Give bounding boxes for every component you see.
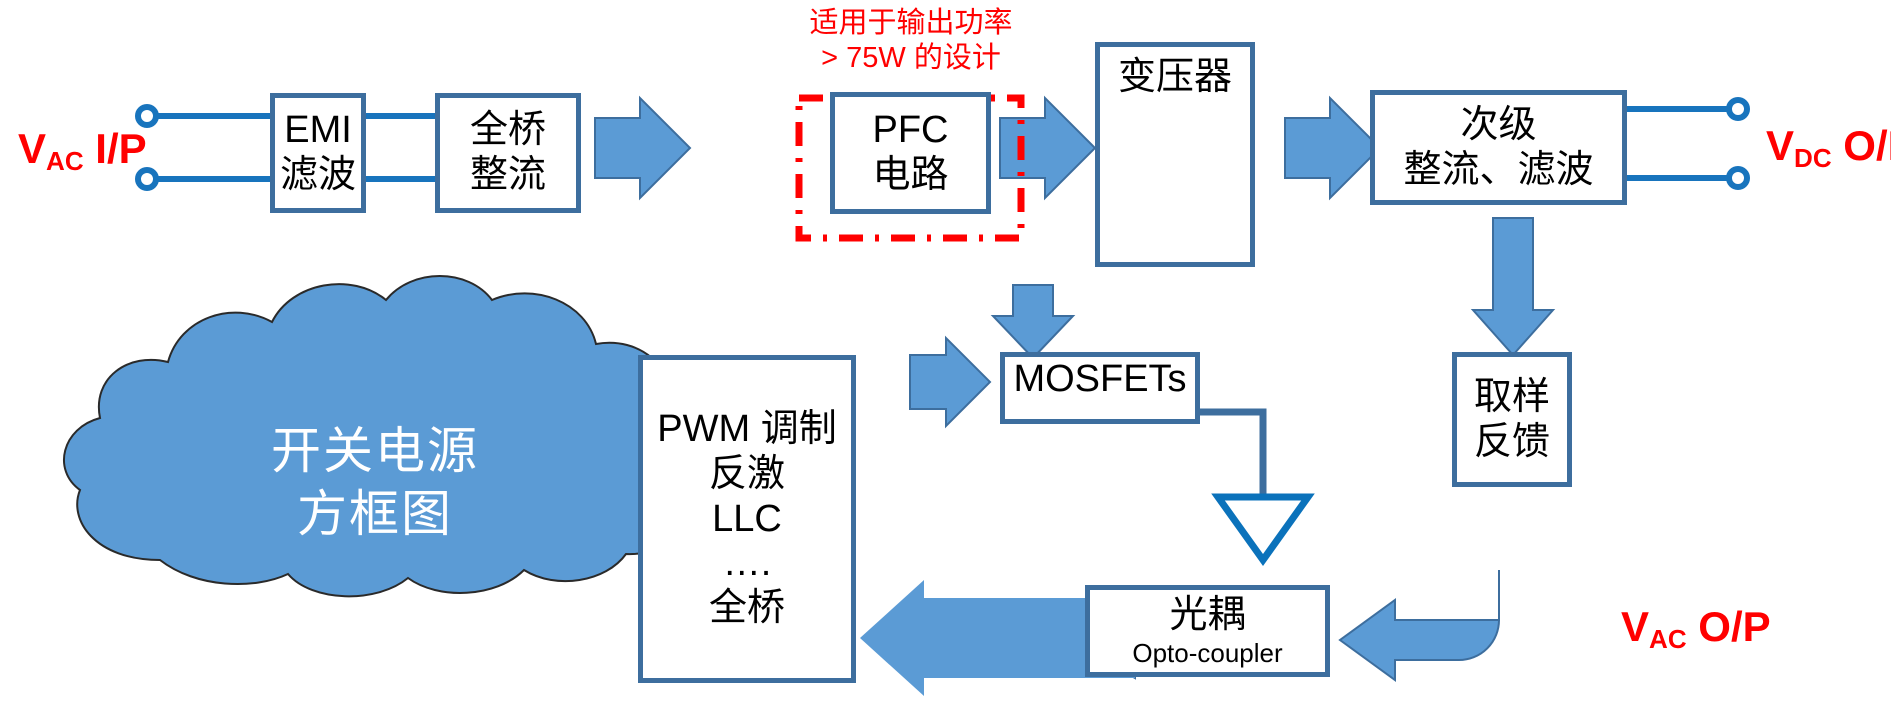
arrow-sampling-to-optocoupler-icon (1340, 570, 1499, 680)
output-terminal-top-icon (1729, 100, 1747, 118)
output-terminal-bottom-icon (1729, 169, 1747, 187)
box-transformer[interactable]: 变压器 (1095, 42, 1255, 267)
box-emi-filter[interactable]: EMI滤波 (270, 93, 366, 213)
input-terminal-top-icon (138, 107, 156, 125)
arrow-rectifier-to-pfc-icon (595, 98, 690, 198)
label-vac-output-sub: AC (1649, 624, 1687, 654)
label-vac-input-io: I/P (95, 125, 146, 172)
label-vac-output: VAC O/P (1621, 603, 1771, 651)
label-vdc-output: VDC O/P (1766, 122, 1891, 170)
box-sampling-feedback[interactable]: 取样 反馈 (1452, 352, 1572, 487)
optocoupler-label-en: Opto-coupler (1132, 638, 1282, 669)
emi-to-rectifier-wires (363, 116, 437, 179)
hollow-down-arrow-icon (1218, 497, 1308, 560)
arrow-secondary-to-sampling-icon (1473, 218, 1553, 355)
label-vac-output-v: V (1621, 603, 1649, 650)
box-pwm-control[interactable]: PWM 调制 反激 LLC …. 全桥 (638, 355, 856, 683)
box-optocoupler[interactable]: 光耦 Opto-coupler (1085, 585, 1330, 677)
arrow-pwm-to-mosfets-icon (910, 338, 990, 426)
output-wires (1627, 109, 1730, 178)
label-vac-input: VAC I/P (18, 125, 147, 173)
label-vac-output-io: O/P (1698, 603, 1770, 650)
box-mosfets[interactable]: MOSFETs (1000, 352, 1200, 424)
box-secondary-rectify-filter[interactable]: 次级 整流、滤波 (1370, 90, 1627, 205)
input-wires (150, 116, 272, 179)
arrow-transformer-to-mosfets-icon (993, 285, 1073, 358)
box-full-bridge-rectifier[interactable]: 全桥 整流 (435, 93, 581, 213)
label-vac-input-v: V (18, 125, 46, 172)
block-diagram-canvas: 开关电源 方框图 EMI滤波 全桥 整流 PFC 电路 变压器 次级 整流、滤波… (0, 0, 1891, 707)
optocoupler-label-cn: 光耦 (1169, 593, 1245, 638)
arrow-transformer-to-secondary-icon (1285, 98, 1380, 198)
box-pfc-circuit[interactable]: PFC 电路 (830, 92, 991, 214)
cloud-title: 开关电源 方框图 (130, 420, 620, 545)
pfc-annotation-text: 适用于输出功率 > 75W 的设计 (776, 6, 1046, 76)
label-vdc-output-v: V (1766, 122, 1794, 169)
label-vdc-output-io: O/P (1843, 122, 1891, 169)
label-vac-input-sub: AC (46, 146, 84, 176)
mosfets-output-wire (1200, 412, 1263, 497)
label-vdc-output-sub: DC (1794, 143, 1832, 173)
arrow-pfc-to-transformer-icon (1000, 98, 1095, 198)
arrow-optocoupler-to-pwm-head-icon (860, 580, 924, 696)
